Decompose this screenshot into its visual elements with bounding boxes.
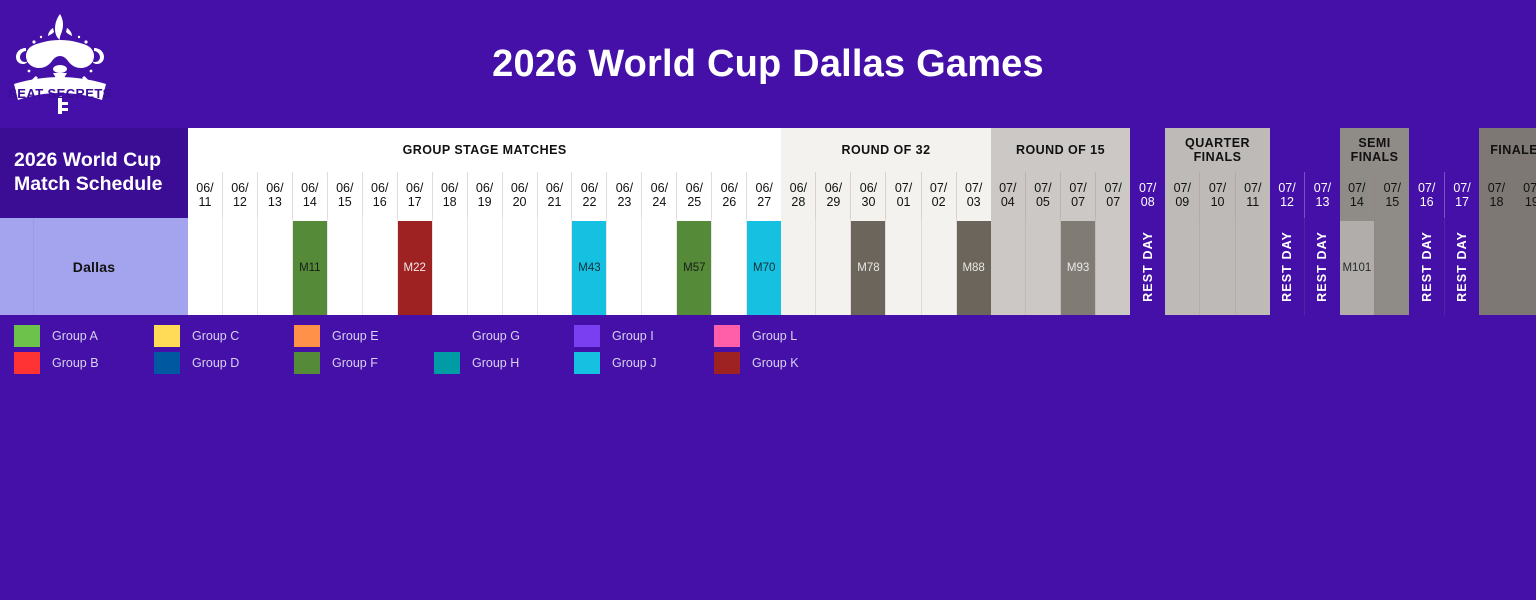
date-header-row: 06/1106/1206/1306/1406/1506/1606/1706/18… — [188, 172, 781, 218]
date-header-row: 07/1207/13 — [1270, 172, 1340, 218]
legend-column: Group CGroup D — [154, 325, 294, 374]
legend-item: Group E — [294, 325, 434, 347]
day-cell — [606, 218, 641, 315]
date-header-cell: 07/14 — [1340, 172, 1374, 218]
date-month: 06/ — [301, 181, 318, 196]
legend-label: Group G — [472, 329, 520, 343]
rest-day-label: REST DAY — [1280, 231, 1294, 302]
date-header-row: 07/0407/0507/0707/07 — [991, 172, 1131, 218]
legend-color-swatch — [154, 325, 180, 347]
date-month: 07/ — [1174, 181, 1191, 196]
match-block[interactable]: M93 — [1061, 221, 1095, 315]
legend-color-swatch — [434, 325, 460, 347]
date-day: 18 — [443, 195, 457, 210]
city-row-label: Dallas — [0, 218, 188, 315]
stage-section: SEMI FINALS07/1407/15M101 — [1340, 128, 1410, 315]
date-header-cell: 07/07 — [1060, 172, 1095, 218]
match-block[interactable]: M22 — [398, 221, 432, 315]
date-header-cell: 07/11 — [1235, 172, 1270, 218]
day-cell: M22 — [397, 218, 432, 315]
match-row: M11M22M43M57M70 — [188, 218, 781, 315]
date-month: 06/ — [441, 181, 458, 196]
legend-label: Group B — [52, 356, 99, 370]
rest-day-label: REST DAY — [1315, 231, 1329, 302]
match-block[interactable]: M101 — [1340, 221, 1374, 315]
legend-label: Group A — [52, 329, 98, 343]
match-block[interactable]: M43 — [572, 221, 606, 315]
date-month: 06/ — [860, 181, 877, 196]
day-cell — [641, 218, 676, 315]
date-header-cell: 06/13 — [257, 172, 292, 218]
legend-color-swatch — [294, 325, 320, 347]
date-header-cell: 06/14 — [292, 172, 327, 218]
schedule-label-column: 2026 World Cup Match Schedule Dallas — [0, 128, 188, 315]
legend-color-swatch — [154, 352, 180, 374]
legend-color-swatch — [434, 352, 460, 374]
legend-item: Group L — [714, 325, 854, 347]
date-header-cell: 06/20 — [502, 172, 537, 218]
legend-color-swatch — [714, 352, 740, 374]
match-row — [1165, 218, 1270, 315]
stage-header: SEMI FINALS — [1340, 128, 1410, 172]
legend-column: Group AGroup B — [14, 325, 154, 374]
day-cell — [362, 218, 397, 315]
date-month: 06/ — [231, 181, 248, 196]
date-month: 07/ — [1278, 181, 1295, 196]
day-cell — [781, 218, 815, 315]
legend-label: Group F — [332, 356, 378, 370]
match-row: M101 — [1340, 218, 1410, 315]
date-header-cell: 06/22 — [571, 172, 606, 218]
legend-color-swatch — [574, 352, 600, 374]
date-month: 07/ — [1384, 181, 1401, 196]
day-cell: M70 — [746, 218, 781, 315]
legend-column: Group EGroup F — [294, 325, 434, 374]
stage-header: ROUND OF 15 — [991, 128, 1131, 172]
date-month: 07/ — [1453, 181, 1470, 196]
legend-label: Group I — [612, 329, 654, 343]
match-block[interactable]: M11 — [293, 221, 327, 315]
date-day: 24 — [652, 195, 666, 210]
date-header-cell: 07/18 — [1479, 172, 1513, 218]
legend-label: Group L — [752, 329, 797, 343]
date-header-cell: 07/02 — [921, 172, 956, 218]
rest-day-label: REST DAY — [1455, 231, 1469, 302]
legend-column: Group IGroup J — [574, 325, 714, 374]
day-cell — [1165, 218, 1199, 315]
date-day: 11 — [1246, 195, 1259, 210]
date-header-cell: 06/16 — [362, 172, 397, 218]
stage-section: 07/08REST DAY — [1130, 128, 1165, 315]
legend-item: Group K — [714, 352, 854, 374]
day-cell — [885, 218, 920, 315]
legend-item: Group F — [294, 352, 434, 374]
date-month: 07/ — [1418, 181, 1435, 196]
day-cell — [537, 218, 572, 315]
day-cell — [222, 218, 257, 315]
date-month: 06/ — [406, 181, 423, 196]
date-header-cell: 07/04 — [991, 172, 1025, 218]
date-header-cell: 07/08 — [1130, 172, 1165, 218]
date-day: 18 — [1490, 195, 1504, 210]
stage-header: ROUND OF 32 — [781, 128, 990, 172]
panel-title-line2: Match Schedule — [14, 173, 188, 197]
day-cell — [1479, 218, 1513, 315]
day-cell — [327, 218, 362, 315]
date-day: 10 — [1211, 195, 1225, 210]
date-header-cell: 06/18 — [432, 172, 467, 218]
stage-section: GROUP STAGE MATCHES06/1106/1206/1306/140… — [188, 128, 781, 315]
match-block[interactable]: M57 — [677, 221, 711, 315]
date-header-cell: 06/25 — [676, 172, 711, 218]
match-row — [1479, 218, 1536, 315]
day-cell: M11 — [292, 218, 327, 315]
day-cell — [1514, 218, 1536, 315]
day-cell: M93 — [1060, 218, 1095, 315]
date-day: 27 — [757, 195, 771, 210]
date-month: 07/ — [895, 181, 912, 196]
date-day: 17 — [408, 195, 422, 210]
date-header-row: 06/2806/2906/3007/0107/0207/03 — [781, 172, 990, 218]
date-month: 06/ — [721, 181, 738, 196]
rest-day-label: REST DAY — [1141, 231, 1155, 302]
schedule-sections: GROUP STAGE MATCHES06/1106/1206/1306/140… — [188, 128, 1536, 315]
date-header-cell: 07/01 — [885, 172, 920, 218]
date-day: 19 — [478, 195, 492, 210]
match-row: REST DAY — [1130, 218, 1165, 315]
stage-header — [1270, 128, 1340, 172]
stage-section: FINALE07/1807/19 — [1479, 128, 1536, 315]
legend-color-swatch — [14, 325, 40, 347]
group-color-legend: Group AGroup BGroup CGroup DGroup EGroup… — [0, 315, 1536, 374]
date-day: 15 — [338, 195, 352, 210]
date-day: 22 — [583, 195, 597, 210]
rest-day-cell: REST DAY — [1305, 218, 1339, 315]
date-header-cell: 07/12 — [1270, 172, 1304, 218]
date-day: 04 — [1001, 195, 1015, 210]
date-month: 07/ — [1348, 181, 1365, 196]
date-month: 07/ — [1034, 181, 1051, 196]
date-header-cell: 07/19 — [1514, 172, 1536, 218]
date-header-cell: 06/23 — [606, 172, 641, 218]
date-month: 07/ — [1139, 181, 1156, 196]
date-header-row: 07/1807/19 — [1479, 172, 1536, 218]
match-block[interactable]: M70 — [747, 221, 781, 315]
legend-color-swatch — [714, 325, 740, 347]
day-cell — [1025, 218, 1060, 315]
date-month: 07/ — [1488, 181, 1505, 196]
legend-label: Group E — [332, 329, 379, 343]
day-cell: M78 — [850, 218, 885, 315]
rest-day-cell: REST DAY — [1130, 218, 1165, 315]
date-day: 03 — [967, 195, 981, 210]
rest-day-cell: REST DAY — [1445, 218, 1479, 315]
legend-column: Group GGroup H — [434, 325, 574, 374]
legend-color-swatch — [574, 325, 600, 347]
date-day: 25 — [687, 195, 701, 210]
panel-title-line1: 2026 World Cup — [14, 149, 188, 173]
legend-label: Group D — [192, 356, 239, 370]
legend-item: Group J — [574, 352, 714, 374]
date-month: 06/ — [651, 181, 668, 196]
date-month: 07/ — [1523, 181, 1536, 196]
day-cell: REST DAY — [1409, 218, 1443, 315]
day-cell — [432, 218, 467, 315]
date-month: 06/ — [546, 181, 563, 196]
date-day: 13 — [1316, 195, 1330, 210]
date-header-cell: 07/17 — [1444, 172, 1479, 218]
date-header-cell: 06/29 — [815, 172, 850, 218]
day-cell — [502, 218, 537, 315]
match-row: REST DAYREST DAY — [1270, 218, 1340, 315]
day-cell: REST DAY — [1304, 218, 1339, 315]
date-day: 12 — [233, 195, 247, 210]
date-header-cell: 06/26 — [711, 172, 746, 218]
day-cell — [815, 218, 850, 315]
date-day: 30 — [862, 195, 876, 210]
date-month: 07/ — [1314, 181, 1331, 196]
stage-section: ROUND OF 3206/2806/2906/3007/0107/0207/0… — [781, 128, 990, 315]
day-cell — [991, 218, 1025, 315]
legend-item: Group B — [14, 352, 154, 374]
date-month: 07/ — [965, 181, 982, 196]
legend-item: Group C — [154, 325, 294, 347]
stage-section: ROUND OF 1507/0407/0507/0707/07M93 — [991, 128, 1131, 315]
legend-label: Group J — [612, 356, 656, 370]
day-cell — [921, 218, 956, 315]
masthead: SEAT SECRETS 2026 World Cup Dallas Games — [0, 0, 1536, 128]
match-row: M93 — [991, 218, 1131, 315]
match-block[interactable]: M88 — [957, 221, 991, 315]
date-month: 06/ — [336, 181, 353, 196]
legend-item: Group D — [154, 352, 294, 374]
day-cell: M57 — [676, 218, 711, 315]
date-header-cell: 06/12 — [222, 172, 257, 218]
date-header-cell: 07/16 — [1409, 172, 1443, 218]
date-month: 06/ — [825, 181, 842, 196]
day-cell — [257, 218, 292, 315]
date-header-cell: 06/15 — [327, 172, 362, 218]
legend-label: Group H — [472, 356, 519, 370]
stage-section: QUARTER FINALS07/0907/1007/11 — [1165, 128, 1270, 315]
stage-header: QUARTER FINALS — [1165, 128, 1270, 172]
date-month: 06/ — [790, 181, 807, 196]
date-header-cell: 06/28 — [781, 172, 815, 218]
date-day: 26 — [722, 195, 736, 210]
date-month: 07/ — [999, 181, 1016, 196]
page-title: 2026 World Cup Dallas Games — [0, 0, 1536, 128]
stage-header: GROUP STAGE MATCHES — [188, 128, 781, 172]
legend-color-swatch — [14, 352, 40, 374]
date-header-cell: 06/17 — [397, 172, 432, 218]
date-header-cell: 06/30 — [850, 172, 885, 218]
day-cell: M88 — [956, 218, 991, 315]
match-block[interactable]: M78 — [851, 221, 885, 315]
date-day: 02 — [932, 195, 946, 210]
date-header-row: 07/08 — [1130, 172, 1165, 218]
date-header-cell: 07/07 — [1095, 172, 1130, 218]
date-month: 07/ — [930, 181, 947, 196]
date-day: 14 — [303, 195, 317, 210]
date-day: 15 — [1385, 195, 1399, 210]
date-day: 13 — [268, 195, 282, 210]
date-day: 23 — [617, 195, 631, 210]
date-header-row: 07/1607/17 — [1409, 172, 1479, 218]
date-month: 06/ — [511, 181, 528, 196]
date-header-cell: 07/10 — [1199, 172, 1234, 218]
rest-day-label: REST DAY — [1420, 231, 1434, 302]
day-cell: M101 — [1340, 218, 1374, 315]
date-day: 14 — [1350, 195, 1364, 210]
date-month: 07/ — [1244, 181, 1261, 196]
date-month: 06/ — [616, 181, 633, 196]
schedule-panel-title: 2026 World Cup Match Schedule — [0, 128, 188, 218]
date-month: 07/ — [1105, 181, 1122, 196]
match-row: REST DAYREST DAY — [1409, 218, 1479, 315]
date-header-cell: 07/05 — [1025, 172, 1060, 218]
legend-label: Group C — [192, 329, 239, 343]
date-header-row: 07/1407/15 — [1340, 172, 1410, 218]
date-day: 01 — [897, 195, 911, 210]
legend-label: Group K — [752, 356, 799, 370]
date-month: 06/ — [581, 181, 598, 196]
date-day: 09 — [1175, 195, 1189, 210]
rest-day-cell: REST DAY — [1270, 218, 1304, 315]
date-day: 20 — [513, 195, 527, 210]
day-cell — [711, 218, 746, 315]
date-header-cell: 07/13 — [1304, 172, 1339, 218]
rest-day-cell: REST DAY — [1409, 218, 1443, 315]
date-month: 06/ — [476, 181, 493, 196]
day-cell — [1235, 218, 1270, 315]
legend-item: Group A — [14, 325, 154, 347]
day-cell: REST DAY — [1444, 218, 1479, 315]
date-day: 19 — [1525, 195, 1536, 210]
date-day: 07 — [1071, 195, 1085, 210]
schedule-table: 2026 World Cup Match Schedule Dallas GRO… — [0, 128, 1536, 315]
date-month: 06/ — [371, 181, 388, 196]
day-cell: REST DAY — [1130, 218, 1165, 315]
day-cell — [1374, 218, 1409, 315]
legend-item: Group I — [574, 325, 714, 347]
stage-section: 07/1607/17REST DAYREST DAY — [1409, 128, 1479, 315]
city-name: Dallas — [73, 259, 115, 275]
date-day: 16 — [1420, 195, 1434, 210]
legend-column: Group LGroup K — [714, 325, 854, 374]
date-day: 17 — [1455, 195, 1469, 210]
date-header-cell: 06/11 — [188, 172, 222, 218]
date-month: 06/ — [686, 181, 703, 196]
date-month: 06/ — [756, 181, 773, 196]
legend-item: Group G — [434, 325, 574, 347]
date-month: 06/ — [196, 181, 213, 196]
date-header-cell: 06/24 — [641, 172, 676, 218]
date-day: 11 — [198, 195, 211, 210]
date-header-cell: 06/27 — [746, 172, 781, 218]
day-cell — [1199, 218, 1234, 315]
stage-header — [1130, 128, 1165, 172]
day-cell: REST DAY — [1270, 218, 1304, 315]
day-cell — [467, 218, 502, 315]
match-row: M78M88 — [781, 218, 990, 315]
date-header-cell: 06/21 — [537, 172, 572, 218]
date-day: 29 — [826, 195, 840, 210]
date-day: 07 — [1106, 195, 1120, 210]
date-day: 05 — [1036, 195, 1050, 210]
day-cell — [188, 218, 222, 315]
date-header-cell: 07/09 — [1165, 172, 1199, 218]
stage-header: FINALE — [1479, 128, 1536, 172]
date-day: 21 — [548, 195, 562, 210]
date-header-cell: 06/19 — [467, 172, 502, 218]
date-header-row: 07/0907/1007/11 — [1165, 172, 1270, 218]
legend-color-swatch — [294, 352, 320, 374]
stage-header — [1409, 128, 1479, 172]
date-month: 07/ — [1069, 181, 1086, 196]
date-month: 06/ — [266, 181, 283, 196]
legend-item: Group H — [434, 352, 574, 374]
date-day: 28 — [791, 195, 805, 210]
date-day: 08 — [1141, 195, 1155, 210]
day-cell: M43 — [571, 218, 606, 315]
stage-section: 07/1207/13REST DAYREST DAY — [1270, 128, 1340, 315]
date-header-cell: 07/03 — [956, 172, 991, 218]
row-divider — [33, 218, 34, 315]
day-cell — [1095, 218, 1130, 315]
date-day: 12 — [1280, 195, 1294, 210]
date-day: 16 — [373, 195, 387, 210]
date-header-cell: 07/15 — [1374, 172, 1409, 218]
date-month: 07/ — [1209, 181, 1226, 196]
